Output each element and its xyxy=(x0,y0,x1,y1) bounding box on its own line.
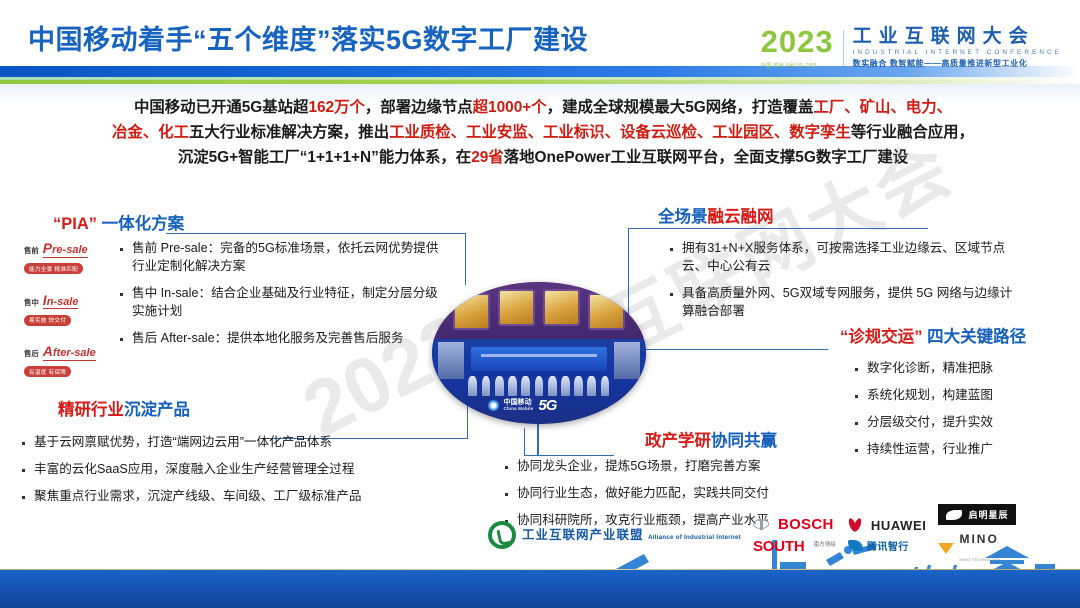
pia-tag-insale-pill: 易实施 快交付 xyxy=(24,315,71,326)
cloud-bullet-1: 拥有31+N+X服务体系，可按需选择工业边缘云、区域节点云、中心公有云 xyxy=(682,240,1020,276)
conference-slogan: 数实融合 数智赋能——高质量推进新型工业化 xyxy=(853,58,1062,69)
list-item: 持续性运营，行业推广 xyxy=(855,441,1075,459)
alliance-name-en: Alliance of Industrial Internet xyxy=(648,534,741,541)
section-heading-key-paths: “诊规交运” 四大关键路径 xyxy=(840,323,1026,347)
list-item: 拥有31+N+X服务体系，可按需选择工业边缘云、区域节点云、中心公有云 xyxy=(670,240,1020,276)
photo-side-banner-right xyxy=(614,342,640,379)
pia-tag-aftersale: 售后 After-sale 有温度 有保障 xyxy=(24,343,120,379)
key-paths-bullets: 数字化诊断，精准把脉 系统化规划，构建蓝图 分层级交付，提升实效 持续性运营，行… xyxy=(855,360,1075,468)
south-label: SOUTH xyxy=(753,538,805,555)
sponsor-tg: 腾讯智行 xyxy=(848,538,927,553)
slide-root: 中国移动着手“五个维度”落实5G数字工厂建设 2023 中国·苏州 8月1日-1… xyxy=(0,0,1080,608)
photo-brand-text: 中国移动 China Mobile xyxy=(504,399,534,412)
collab-bullet-1: 协同龙头企业，提炼5G场景，打磨完善方案 xyxy=(517,458,761,476)
bullet-dot xyxy=(670,293,673,296)
huawei-label: HUAWEI xyxy=(871,518,927,533)
section-heading-pia: “PIA” 一体化方案 xyxy=(53,210,184,234)
sponsor-col-bosch-south: BOSCH SOUTH 南方测绘 xyxy=(753,516,836,555)
list-item: 系统化规划，构建蓝图 xyxy=(855,387,1075,405)
pia-title-blue: 一体化方案 xyxy=(102,215,185,233)
collab-title-red: 政产学研 xyxy=(645,432,711,450)
mino-chevron-icon xyxy=(938,543,954,554)
bullet-dot xyxy=(120,293,123,296)
pia-bullets: 售前 Pre-sale：完备的5G标准场景，依托云网优势提供行业定制化解决方案 … xyxy=(120,240,450,356)
list-item: 基于云网禀赋优势，打造“端网边云用”一体化产品体系 xyxy=(22,434,452,452)
mino-text: MINO MINO TECHNOLOGY xyxy=(959,530,1000,566)
logo-divider xyxy=(843,30,844,66)
bullet-dot xyxy=(670,248,673,251)
banner-l1a: 中国移动已开通5G基站超 xyxy=(134,99,308,116)
bullet-dot xyxy=(22,469,25,472)
pia-tag-aftersale-pill: 有温度 有保障 xyxy=(24,366,71,377)
list-item: 协同龙头企业，提炼5G场景，打磨完善方案 xyxy=(505,458,845,476)
sponsor-col-huawei-tg: HUAWEI 腾讯智行 xyxy=(848,518,927,553)
photo-person xyxy=(574,376,583,396)
pia-bullet-3: 售后 After-sale：提供本地化服务及完善售后服务 xyxy=(132,330,404,348)
photo-person xyxy=(535,376,544,396)
photo-ceiling-panel xyxy=(588,293,624,330)
bullet-dot xyxy=(120,248,123,251)
banner-l1c: ，建成全球规模最大5G网络，打造覆盖 xyxy=(547,99,814,116)
conference-logo: 2023 中国·苏州 8月1日-18日 工业互联网大会 INDUSTRIAL I… xyxy=(761,26,1062,69)
bullet-dot xyxy=(855,368,858,371)
conference-name-cn: 工业互联网大会 xyxy=(853,27,1062,46)
pia-tag-presale: 售前 Pre-sale 能力全景 精准匹配 xyxy=(24,240,120,276)
list-item: 聚焦重点行业需求，沉淀产线级、车间级、工厂级标准产品 xyxy=(22,488,452,506)
photo-person xyxy=(468,376,477,396)
banner-l1-hl3: 工厂、矿山、电力、 xyxy=(813,99,952,116)
paths-bullet-2: 系统化规划，构建蓝图 xyxy=(867,387,993,405)
huawei-flower-icon xyxy=(848,518,862,532)
photo-5g-badge: 5G xyxy=(538,397,556,414)
photo-person xyxy=(601,376,610,396)
products-bullet-1: 基于云网禀赋优势，打造“端网边云用”一体化产品体系 xyxy=(34,434,332,452)
list-item: 协同行业生态，做好能力匹配，实践共同交付 xyxy=(505,485,845,503)
pia-tag-insale-cn: 售中 xyxy=(24,297,39,308)
bullet-dot xyxy=(120,338,123,341)
bullet-dot xyxy=(855,422,858,425)
collab-bullet-2: 协同行业生态，做好能力匹配，实践共同交付 xyxy=(517,485,769,503)
products-title-blue: 沉淀产品 xyxy=(124,401,190,419)
footer-blue-wave xyxy=(0,570,1080,608)
photo-led-screen xyxy=(471,347,608,371)
pia-tag-insale-en: In-sale xyxy=(43,292,79,310)
collab-title-blue: 协同共赢 xyxy=(711,432,777,450)
pia-bullet-2: 售中 In-sale：结合企业基础及行业特征，制定分层分级实施计划 xyxy=(132,285,450,321)
bosch-armature-icon xyxy=(753,519,769,529)
conference-year: 2023 xyxy=(761,26,834,57)
section-heading-collaboration: 政产学研协同共赢 xyxy=(645,427,777,451)
bullet-dot xyxy=(505,466,508,469)
list-item: 售后 After-sale：提供本地化服务及完善售后服务 xyxy=(120,330,450,348)
banner-l3b: 落地OnePower工业互联网平台，全面支撑5G数字工厂建设 xyxy=(504,149,908,166)
sponsor-mino: MINO MINO TECHNOLOGY xyxy=(938,530,1016,566)
paths-bullet-4: 持续性运营，行业推广 xyxy=(867,441,993,459)
pia-tag-presale-pill: 能力全景 精准匹配 xyxy=(24,263,83,274)
conference-name-en: INDUSTRIAL INTERNET CONFERENCE xyxy=(853,49,1062,56)
products-bullet-2: 丰富的云化SaaS应用，深度融入企业生产经营管理全过程 xyxy=(34,461,354,479)
mino-sublabel: MINO TECHNOLOGY xyxy=(959,558,1000,562)
china-mobile-logo-icon xyxy=(488,400,499,411)
products-bullets: 基于云网禀赋优势，打造“端网边云用”一体化产品体系 丰富的云化SaaS应用，深度… xyxy=(22,434,452,515)
bullet-dot xyxy=(22,442,25,445)
pia-tag-aftersale-cn: 售后 xyxy=(24,348,39,359)
photo-ceiling-panel xyxy=(498,289,534,326)
sponsor-qiming: 启明星辰 xyxy=(938,504,1016,525)
cloud-title-red: 融云融网 xyxy=(708,208,774,226)
sponsor-logo-row: 工业互联网产业联盟 Alliance of Industrial Interne… xyxy=(488,504,1016,566)
qiming-bird-icon xyxy=(946,510,962,520)
banner-l2-hl2: 工业质检、工业安监、工业标识、设备云巡检、工业园区、数字孪生 xyxy=(389,124,851,141)
paths-title-red: “诊规交运” xyxy=(840,328,923,346)
photo-person xyxy=(495,376,504,396)
conference-year-subtitle: 中国·苏州 8月1日-18日 xyxy=(761,62,834,69)
cloud-title-blue: 全场景 xyxy=(658,208,708,226)
products-title-red: 精研行业 xyxy=(58,401,124,419)
pia-tag-insale: 售中 In-sale 易实施 快交付 xyxy=(24,292,120,328)
list-item: 数字化诊断，精准把脉 xyxy=(855,360,1075,378)
banner-l2a: 五大行业标准解决方案，推出 xyxy=(189,124,389,141)
list-item: 售中 In-sale：结合企业基础及行业特征，制定分层分级实施计划 xyxy=(120,285,450,321)
banner-l1-hl2: 超1000+个 xyxy=(473,99,547,116)
photo-person xyxy=(548,376,557,396)
connector-photo-stub xyxy=(537,424,539,456)
photo-ceiling-panel xyxy=(543,289,579,326)
pia-tag-presale-cn: 售前 xyxy=(24,245,39,256)
photo-person xyxy=(587,376,596,396)
sponsor-huawei: HUAWEI xyxy=(848,518,927,533)
sponsor-alliance: 工业互联网产业联盟 Alliance of Industrial Interne… xyxy=(488,521,741,549)
sponsor-south: SOUTH 南方测绘 xyxy=(753,538,836,555)
list-item: 具备高质量外网、5G双域专网服务，提供 5G 网络与边缘计算融合部署 xyxy=(670,285,1020,321)
banner-l1b: ，部署边缘节点 xyxy=(365,99,473,116)
list-item: 分层级交付，提升实效 xyxy=(855,414,1075,432)
banner-l1-hl1: 162万个 xyxy=(308,99,364,116)
qiming-label: 启明星辰 xyxy=(968,508,1008,521)
photo-person xyxy=(482,376,491,396)
paths-bullet-3: 分层级交付，提升实效 xyxy=(867,414,993,432)
photo-person xyxy=(508,376,517,396)
cloud-network-bullets: 拥有31+N+X服务体系，可按需选择工业边缘云、区域节点云、中心公有云 具备高质… xyxy=(670,240,1020,330)
south-label-cn: 南方测绘 xyxy=(813,543,835,549)
cloud-bullet-2: 具备高质量外网、5G双域专网服务，提供 5G 网络与边缘计算融合部署 xyxy=(682,285,1020,321)
bosch-label: BOSCH xyxy=(778,516,834,533)
bullet-dot xyxy=(22,496,25,499)
banner-l3a: 沉淀5G+智能工厂“1+1+1+N”能力体系，在 xyxy=(178,149,471,166)
center-event-photo: 中国移动 China Mobile 5G xyxy=(432,282,646,424)
banner-l3-hl1: 29省 xyxy=(471,149,504,166)
photo-person xyxy=(561,376,570,396)
list-item: 丰富的云化SaaS应用，深度融入企业生产经营管理全过程 xyxy=(22,461,452,479)
alliance-gear-icon xyxy=(488,521,516,549)
alliance-name-cn: 工业互联网产业联盟 xyxy=(522,528,644,542)
section-heading-products: 精研行业沉淀产品 xyxy=(58,396,190,420)
bullet-dot xyxy=(855,395,858,398)
photo-person xyxy=(521,376,530,396)
alliance-text: 工业互联网产业联盟 Alliance of Industrial Interne… xyxy=(522,526,741,544)
pia-tag-list: 售前 Pre-sale 能力全景 精准匹配 售中 In-sale 易实施 快交付… xyxy=(24,240,120,395)
photo-side-banner-left xyxy=(438,342,464,379)
page-title: 中国移动着手“五个维度”落实5G数字工厂建设 xyxy=(28,18,588,57)
pia-tag-presale-en: Pre-sale xyxy=(43,240,88,258)
products-bullet-3: 聚焦重点行业需求，沉淀产线级、车间级、工厂级标准产品 xyxy=(34,488,361,506)
paths-title-blue: 四大关键路径 xyxy=(927,328,1026,346)
pia-tag-aftersale-en: After-sale xyxy=(43,343,96,361)
banner-l2b: 等行业融合应用， xyxy=(851,124,974,141)
photo-people-row xyxy=(468,376,609,396)
sponsor-bosch: BOSCH xyxy=(753,516,836,533)
pia-bullet-1: 售前 Pre-sale：完备的5G标准场景，依托云网优势提供行业定制化解决方案 xyxy=(132,240,450,276)
photo-ceiling-panel xyxy=(453,293,489,330)
banner-l2-hl1: 冶金、化工 xyxy=(112,124,189,141)
section-heading-cloud-network: 全场景融云融网 xyxy=(658,203,774,227)
photo-china-mobile-brand: 中国移动 China Mobile 5G xyxy=(488,397,557,414)
bullet-dot xyxy=(505,493,508,496)
bullet-dot xyxy=(855,449,858,452)
mino-label: MINO xyxy=(959,532,998,546)
list-item: 售前 Pre-sale：完备的5G标准场景，依托云网优势提供行业定制化解决方案 xyxy=(120,240,450,276)
tg-label: 腾讯智行 xyxy=(867,538,909,553)
sponsor-col-qx-mino: 启明星辰 MINO MINO TECHNOLOGY xyxy=(938,504,1016,566)
summary-banner: 中国移动已开通5G基站超162万个，部署边缘节点超1000+个，建成全球规模最大… xyxy=(38,96,1048,171)
pia-title-red: “PIA” xyxy=(53,215,97,233)
paths-bullet-1: 数字化诊断，精准把脉 xyxy=(867,360,993,378)
tg-mark-icon xyxy=(848,540,863,551)
